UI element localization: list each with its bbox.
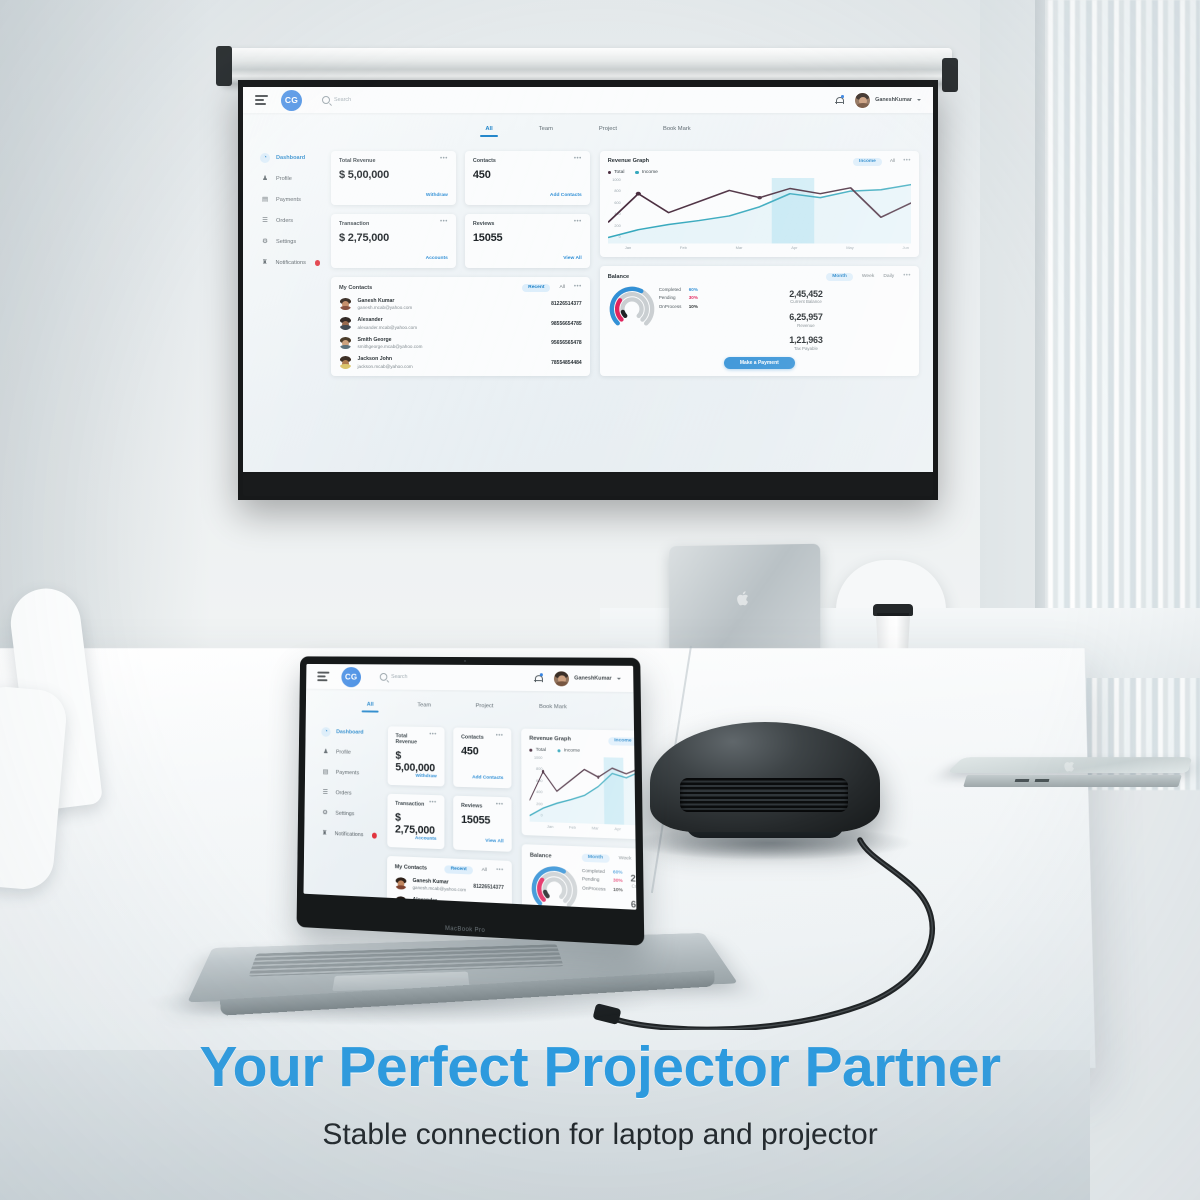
stat-row-2: Transaction ••• $ 2,75,000 Accounts xyxy=(331,214,590,268)
list-item[interactable]: Smith George smithgeorge.mcab@yahoo.com … xyxy=(339,337,582,350)
more-icon[interactable]: ••• xyxy=(496,735,504,739)
contact-name: Alexander xyxy=(358,317,383,323)
stats-column: Total Revenue ••• $ 5,00,000 Withdraw xyxy=(387,726,513,909)
figure-value: 6,25,957 xyxy=(626,899,636,910)
legend-pct: 30% xyxy=(689,295,698,300)
card-value: $ 5,00,000 xyxy=(395,750,436,775)
card-my-contacts: My Contacts Recent All ••• xyxy=(387,856,513,910)
gear-icon: ⚙ xyxy=(260,237,270,247)
figure-value: 6,25,957 xyxy=(701,312,911,322)
tab-all[interactable]: All xyxy=(485,126,492,137)
legend-label: Completed xyxy=(582,868,608,874)
card-contacts[interactable]: Contacts ••• 450 Add Contacts xyxy=(453,727,511,788)
sidebar-item-profile[interactable]: ♟ Profile xyxy=(260,174,320,184)
user-icon: ♟ xyxy=(321,747,330,757)
legend-pct: 10% xyxy=(613,886,623,892)
tab-team[interactable]: Team xyxy=(539,126,553,137)
sidebar-label: Dashboard xyxy=(336,729,363,735)
hamburger-icon[interactable] xyxy=(255,95,268,106)
contact-phone: 81226514377 xyxy=(551,301,582,307)
sidebar-label: Payments xyxy=(276,197,301,203)
laptop-ports xyxy=(1015,779,1054,782)
card-reviews[interactable]: Reviews ••• 15055 View All xyxy=(465,214,590,268)
figure-label: Revenue xyxy=(701,323,911,328)
tab-team[interactable]: Team xyxy=(417,702,431,713)
segment-recent[interactable]: Recent xyxy=(522,284,550,292)
line-chart-plot: 1000800 600400 2000 xyxy=(608,178,911,250)
balance-legend: Completed60% Pending30% OnProcess10% xyxy=(656,285,698,355)
sidebar-label: Notifications xyxy=(335,831,364,838)
avatar xyxy=(339,337,352,350)
card-action-link[interactable]: View All xyxy=(563,256,581,261)
segment-week[interactable]: Week xyxy=(619,856,632,862)
webcam-icon xyxy=(464,660,466,662)
make-a-payment-button[interactable]: Make a Payment xyxy=(724,357,795,369)
more-icon[interactable]: ••• xyxy=(496,804,504,808)
app-topbar: CG Search GaneshKumar xyxy=(243,87,933,113)
contact-name: Alexander xyxy=(413,897,438,904)
card-revenue-graph: Revenue Graph Income All ••• Total xyxy=(600,151,919,257)
laptop-lid xyxy=(669,544,820,655)
line-chart-plot: 1000800 600400 2000 xyxy=(529,755,636,833)
more-icon[interactable]: ••• xyxy=(903,160,911,164)
card-action-link[interactable]: Withdraw xyxy=(426,193,448,198)
contact-phone: 81226514377 xyxy=(473,884,504,891)
topbar-right: GaneshKumar xyxy=(534,671,621,687)
card-title: Reviews xyxy=(461,803,482,810)
search-icon xyxy=(322,96,330,104)
card-title: Contacts xyxy=(461,734,484,740)
more-icon[interactable]: ••• xyxy=(903,275,911,279)
legend-label: Completed xyxy=(659,287,684,292)
contact-email: ganesh.mcab@yahoo.com xyxy=(358,305,546,310)
avatar xyxy=(339,317,352,330)
screen-roller-housing xyxy=(222,48,952,84)
balance-figures: 2,45,452Current Balance 6,25,957Revenue … xyxy=(698,285,911,355)
sidebar-label: Payments xyxy=(336,770,359,776)
dashboard-content: Total Revenue ••• $ 5,00,000 Withdraw xyxy=(331,151,919,376)
screen-bottom-bar xyxy=(243,474,933,496)
card-value: 15055 xyxy=(473,232,582,244)
card-balance: Balance Month Week Daily ••• xyxy=(522,844,637,910)
sidebar-item-payments[interactable]: ▤ Payments xyxy=(260,195,320,205)
legend-pct: 60% xyxy=(689,287,698,292)
segment-all[interactable]: All xyxy=(482,868,487,873)
list-item[interactable]: Alexander alexander.mcab@yahoo.com 98556… xyxy=(339,317,582,330)
card-title: Transaction xyxy=(339,221,369,227)
radial-chart-svg xyxy=(608,285,656,333)
contact-email: alexander.mcab@yahoo.com xyxy=(358,325,546,330)
closed-laptop xyxy=(955,748,1190,808)
segment-recent[interactable]: Recent xyxy=(445,865,473,874)
product-scene: CG Search GaneshKumar xyxy=(0,0,1200,1200)
sidebar-label: Profile xyxy=(276,176,292,182)
legend-pct: 60% xyxy=(613,869,623,875)
figure-label: Tax Payable xyxy=(701,346,911,351)
avatar xyxy=(339,298,352,311)
user-name: GaneshKumar xyxy=(875,97,912,103)
balance-figures: 2,45,452Current Balance 6,25,957Revenue … xyxy=(623,867,637,909)
balance-legend: Completed60% Pending30% OnProcess10% xyxy=(579,866,624,910)
more-icon[interactable]: ••• xyxy=(574,221,582,225)
sidebar-item-orders[interactable]: ☰ Orders xyxy=(321,788,378,799)
sidebar-item-notifications[interactable]: ♜ Notifications xyxy=(260,258,320,268)
contact-email: ganesh.mcab@yahoo.com xyxy=(413,885,468,893)
sidebar-label: Notifications xyxy=(275,260,305,266)
card-title: Transaction xyxy=(395,801,424,808)
card-action-link[interactable]: Accounts xyxy=(415,836,437,842)
contact-email: smithgeorge.mcab@yahoo.com xyxy=(358,344,546,349)
more-icon[interactable]: ••• xyxy=(574,158,582,162)
card-action-link[interactable]: Add Contacts xyxy=(472,775,503,781)
card-title: Revenue Graph xyxy=(529,736,571,743)
projected-image: CG Search GaneshKumar xyxy=(243,87,933,472)
radial-chart xyxy=(530,864,580,910)
bell-icon: ♜ xyxy=(260,258,269,268)
apple-logo-icon xyxy=(736,590,751,607)
card-action-link[interactable]: Accounts xyxy=(426,256,448,261)
card-reviews[interactable]: Reviews ••• 15055 View All xyxy=(453,796,512,852)
legend-income: Income xyxy=(564,748,580,753)
tab-all[interactable]: All xyxy=(367,702,374,713)
notification-bell-icon[interactable] xyxy=(534,674,542,683)
card-title: Balance xyxy=(530,852,552,859)
notification-badge xyxy=(372,833,377,838)
contact-name: Ganesh Kumar xyxy=(358,298,395,304)
more-icon[interactable]: ••• xyxy=(574,286,582,290)
card-revenue-graph: Revenue Graph Income All ••• Total xyxy=(521,729,636,841)
contact-phone: 98556654785 xyxy=(551,321,582,327)
avatar xyxy=(339,356,352,369)
stat-row-1: Total Revenue ••• $ 5,00,000 Withdraw xyxy=(388,726,512,788)
sidebar-label: Orders xyxy=(336,790,352,796)
more-icon[interactable]: ••• xyxy=(440,158,448,162)
contact-phone: 78554854484 xyxy=(551,360,582,366)
projection-screen: CG Search GaneshKumar xyxy=(222,48,952,503)
app-topbar: CG Search GaneshKumar xyxy=(306,664,633,692)
dashboard-icon: ◔ xyxy=(260,153,270,163)
card-title: My Contacts xyxy=(395,864,427,871)
charts-column: Revenue Graph Income All ••• Total xyxy=(600,151,919,376)
card-value: $ 2,75,000 xyxy=(395,812,437,837)
contact-email: alexander.mcab@yahoo.com xyxy=(412,905,471,910)
card-value: $ 2,75,000 xyxy=(339,232,448,244)
segment-week[interactable]: Week xyxy=(862,274,874,279)
sidebar-item-dashboard[interactable]: ◔ Dashboard xyxy=(321,727,377,738)
card-transaction[interactable]: Transaction ••• $ 2,75,000 Accounts xyxy=(331,214,456,268)
x-axis: JanFeb MarApr MayJun xyxy=(625,245,909,250)
sidebar-item-settings[interactable]: ⚙ Settings xyxy=(320,808,377,820)
more-icon[interactable]: ••• xyxy=(429,802,437,806)
legend-pct: 10% xyxy=(689,304,698,309)
avatar xyxy=(855,93,870,108)
card-total-revenue[interactable]: Total Revenue ••• $ 5,00,000 Withdraw xyxy=(331,151,456,205)
sidebar-item-settings[interactable]: ⚙ Settings xyxy=(260,237,320,247)
card-my-contacts: My Contacts Recent All ••• xyxy=(331,277,590,376)
sidebar: ◔ Dashboard ♟ Profile ▤ Payments xyxy=(260,151,320,376)
contact-name: Jackson John xyxy=(358,356,393,362)
sidebar-label: Settings xyxy=(276,239,296,245)
laptop-brand: MacBook Pro xyxy=(297,918,645,943)
stat-row-1: Total Revenue ••• $ 5,00,000 Withdraw xyxy=(331,151,590,205)
card-value: 15055 xyxy=(461,814,504,827)
legend-pct: 30% xyxy=(613,878,623,884)
card-value: 450 xyxy=(473,169,582,181)
avatar xyxy=(554,671,569,686)
card-value: 450 xyxy=(461,745,503,758)
avatar xyxy=(395,877,407,890)
more-icon[interactable]: ••• xyxy=(429,734,437,738)
card-action-link[interactable]: Add Contacts xyxy=(550,193,582,198)
foreground-laptop: CG Search GaneshKumar xyxy=(175,655,695,1015)
card-title: Reviews xyxy=(473,221,495,227)
cup-lid xyxy=(873,604,913,616)
dashboard-app-mirror: CG Search GaneshKumar xyxy=(304,664,637,910)
card-title: Contacts xyxy=(473,158,496,164)
list-item[interactable]: Alexander alexander.mcab@yahoo.com 98556… xyxy=(395,896,504,909)
segment-month[interactable]: Month xyxy=(826,273,853,281)
orders-icon: ☰ xyxy=(321,788,330,798)
sidebar-item-notifications[interactable]: ♜ Notifications xyxy=(320,829,377,841)
user-name: GaneshKumar xyxy=(574,675,612,681)
headline: Your Perfect Projector Partner xyxy=(0,1034,1200,1100)
segment-month[interactable]: Month xyxy=(582,854,610,863)
radial-chart xyxy=(608,285,656,355)
figure-label: Current Balance xyxy=(626,883,637,890)
app-logo: CG xyxy=(341,667,361,687)
notification-badge xyxy=(315,260,320,265)
figure-value: 1,21,963 xyxy=(701,335,911,345)
sidebar-item-orders[interactable]: ☰ Orders xyxy=(260,216,320,226)
tab-bar: All Team Project Book Mark xyxy=(243,126,933,137)
more-icon[interactable]: ••• xyxy=(496,870,504,874)
list-item[interactable]: Jackson John jackson.mcab@yahoo.com 7855… xyxy=(339,356,582,369)
roller-cap-right xyxy=(942,58,958,92)
topbar-right: GaneshKumar xyxy=(835,93,921,108)
legend-label: OnProcess xyxy=(659,304,684,309)
gear-icon: ⚙ xyxy=(320,808,329,818)
notification-bell-icon[interactable] xyxy=(835,96,843,105)
card-title: Balance xyxy=(608,274,629,280)
charts-column: Revenue Graph Income All ••• Total xyxy=(521,729,636,910)
card-total-revenue[interactable]: Total Revenue ••• $ 5,00,000 Withdraw xyxy=(388,726,445,786)
apple-logo-icon xyxy=(1063,758,1077,773)
card-action-link[interactable]: View All xyxy=(485,839,503,845)
segment-daily[interactable]: Daily xyxy=(883,274,894,279)
card-value: $ 5,00,000 xyxy=(339,169,448,181)
segment-income[interactable]: Income xyxy=(853,158,882,166)
legend-income: Income xyxy=(642,170,658,175)
contact-phone: 98556654785 xyxy=(477,904,508,910)
search-input[interactable]: Search xyxy=(380,673,408,681)
dashboard-body: ◔ Dashboard ♟ Profile ▤ Payments xyxy=(243,137,933,376)
card-title: Total Revenue xyxy=(339,158,375,164)
stat-row-2: Transaction ••• $ 2,75,000 Accounts xyxy=(387,794,512,852)
avatar xyxy=(395,896,407,909)
projector-vent-grille xyxy=(680,778,848,812)
tab-project[interactable]: Project xyxy=(599,126,617,137)
sidebar-label: Dashboard xyxy=(276,155,305,161)
figure-label: Current Balance xyxy=(701,299,911,304)
legend-label: OnProcess xyxy=(582,885,608,891)
card-contacts[interactable]: Contacts ••• 450 Add Contacts xyxy=(465,151,590,205)
sidebar-label: Settings xyxy=(335,811,354,818)
card-icon: ▤ xyxy=(321,768,330,778)
stats-column: Total Revenue ••• $ 5,00,000 Withdraw xyxy=(331,151,590,376)
contacts-list: Ganesh Kumar ganesh.mcab@yahoo.com 81226… xyxy=(339,298,582,369)
orders-icon: ☰ xyxy=(260,216,270,226)
chart-legend: Total Income xyxy=(608,170,911,175)
sidebar-label: Orders xyxy=(276,218,293,224)
dashboard-icon: ◔ xyxy=(321,727,330,737)
app-logo: CG xyxy=(281,90,302,111)
bell-icon: ♜ xyxy=(320,829,329,839)
contact-email: jackson.mcab@yahoo.com xyxy=(358,364,546,369)
legend-total: Total xyxy=(614,170,624,175)
sidebar-label: Profile xyxy=(336,750,351,756)
dashboard-body: ◔ Dashboard ♟ Profile ▤ Payments xyxy=(304,712,637,910)
figure-value: 2,45,452 xyxy=(701,289,911,299)
subline: Stable connection for laptop and project… xyxy=(0,1118,1200,1152)
chevron-down-icon xyxy=(917,99,921,101)
card-title: Revenue Graph xyxy=(608,158,649,164)
chevron-down-icon xyxy=(617,678,621,680)
list-item[interactable]: Ganesh Kumar ganesh.mcab@yahoo.com 81226… xyxy=(395,877,504,895)
sidebar-item-payments[interactable]: ▤ Payments xyxy=(321,768,377,779)
list-item[interactable]: Ganesh Kumar ganesh.mcab@yahoo.com 81226… xyxy=(339,298,582,311)
card-icon: ▤ xyxy=(260,195,270,205)
sidebar: ◔ Dashboard ♟ Profile ▤ Payments xyxy=(319,725,378,910)
laptop-screen: CG Search GaneshKumar xyxy=(304,664,637,910)
search-icon xyxy=(380,673,388,681)
sidebar-item-dashboard[interactable]: ◔ Dashboard xyxy=(260,153,320,163)
legend-label: Pending xyxy=(582,876,608,882)
roller-cap-left xyxy=(216,46,232,86)
chart-legend: Total Income xyxy=(529,747,636,755)
card-transaction[interactable]: Transaction ••• $ 2,75,000 Accounts xyxy=(387,794,444,850)
user-menu[interactable]: GaneshKumar xyxy=(855,93,921,108)
card-title: My Contacts xyxy=(339,285,372,291)
card-title: Total Revenue xyxy=(395,733,429,745)
legend-total: Total xyxy=(536,748,546,753)
screen-border: CG Search GaneshKumar xyxy=(238,80,938,500)
contact-phone: 95656565478 xyxy=(551,340,582,346)
contacts-list: Ganesh Kumar ganesh.mcab@yahoo.com 81226… xyxy=(394,877,504,910)
segment-income[interactable]: Income xyxy=(608,737,636,745)
segment-all[interactable]: All xyxy=(559,285,564,290)
dashboard-content: Total Revenue ••• $ 5,00,000 Withdraw xyxy=(387,726,637,909)
dashboard-app: CG Search GaneshKumar xyxy=(243,87,933,472)
keyboard[interactable] xyxy=(249,944,564,976)
tab-book-mark[interactable]: Book Mark xyxy=(663,126,691,137)
card-balance: Balance Month Week Daily ••• xyxy=(600,266,919,376)
laptop-lid: CG Search GaneshKumar xyxy=(297,656,645,945)
sidebar-item-profile[interactable]: ♟ Profile xyxy=(321,747,377,758)
contact-name: Smith George xyxy=(358,337,392,343)
user-icon: ♟ xyxy=(260,174,270,184)
legend-label: Pending xyxy=(659,295,684,300)
tab-project[interactable]: Project xyxy=(476,703,494,714)
search-input[interactable]: Search xyxy=(322,96,351,104)
closed-laptop-side xyxy=(963,775,1182,787)
chart-svg xyxy=(608,178,911,250)
tab-book-mark[interactable]: Book Mark xyxy=(539,704,567,715)
radial-chart-svg xyxy=(530,864,579,910)
card-action-link[interactable]: Withdraw xyxy=(415,774,436,779)
more-icon[interactable]: ••• xyxy=(440,221,448,225)
user-menu[interactable]: GaneshKumar xyxy=(554,671,621,687)
chart-svg xyxy=(529,755,636,833)
segment-all[interactable]: All xyxy=(890,159,895,164)
hamburger-icon[interactable] xyxy=(317,671,329,681)
